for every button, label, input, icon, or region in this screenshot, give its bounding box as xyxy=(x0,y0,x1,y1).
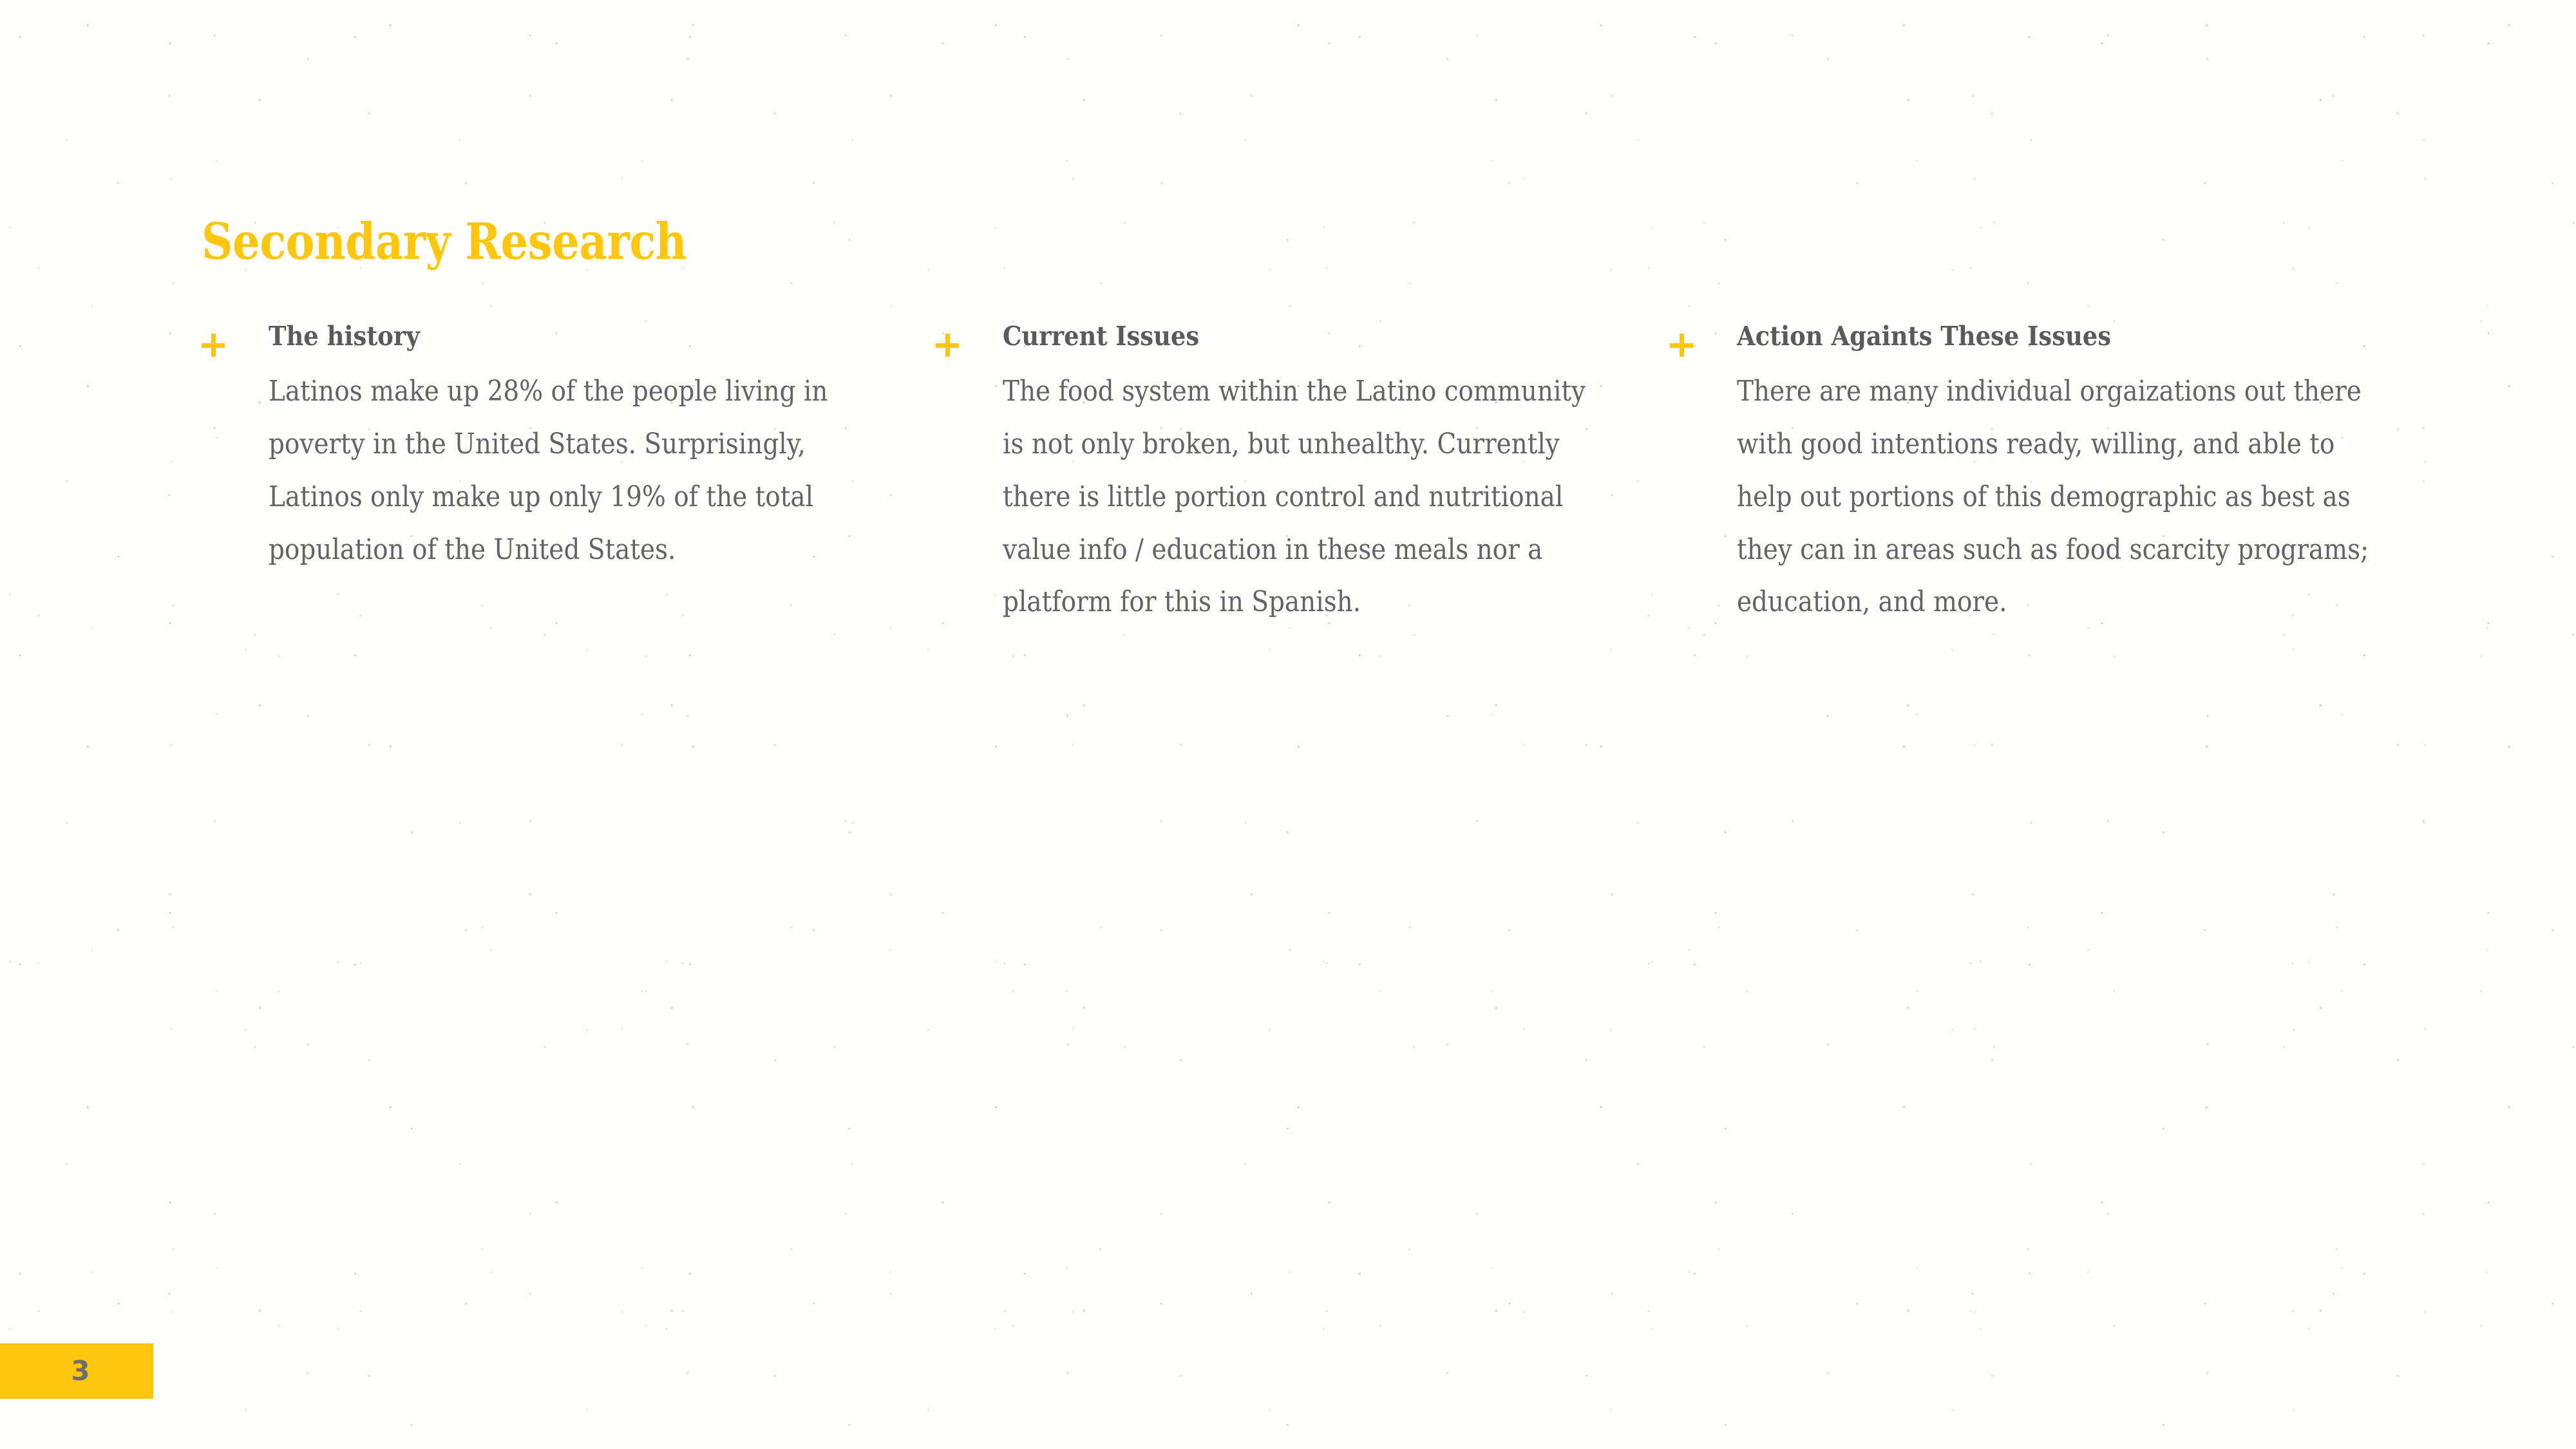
column-content: The history Latinos make up 28% of the p… xyxy=(269,322,878,576)
column-body-text: Latinos make up 28% of the people living… xyxy=(269,365,878,576)
column-body-text: There are many individual orgaizations o… xyxy=(1737,365,2378,629)
page-number: 3 xyxy=(63,1358,90,1385)
page-number-badge: 3 xyxy=(0,1343,153,1399)
plus-icon xyxy=(936,334,959,357)
plus-icon xyxy=(202,334,225,357)
research-column-action: Action Againts These Issues There are ma… xyxy=(1670,322,2404,629)
column-content: Action Againts These Issues There are ma… xyxy=(1737,322,2378,629)
research-column-current-issues: Current Issues The food system within th… xyxy=(936,322,1670,629)
slide-canvas: Secondary Research The history Latinos m… xyxy=(0,0,2576,1449)
page-title: Secondary Research xyxy=(202,217,687,267)
column-heading: Current Issues xyxy=(1003,322,1551,351)
research-columns: The history Latinos make up 28% of the p… xyxy=(202,322,2404,629)
plus-icon xyxy=(1670,334,1693,357)
column-heading: Action Againts These Issues xyxy=(1737,322,2314,351)
column-heading: The history xyxy=(269,322,817,351)
column-content: Current Issues The food system within th… xyxy=(1003,322,1612,629)
research-column-history: The history Latinos make up 28% of the p… xyxy=(202,322,936,576)
column-body-text: The food system within the Latino commun… xyxy=(1003,365,1612,629)
